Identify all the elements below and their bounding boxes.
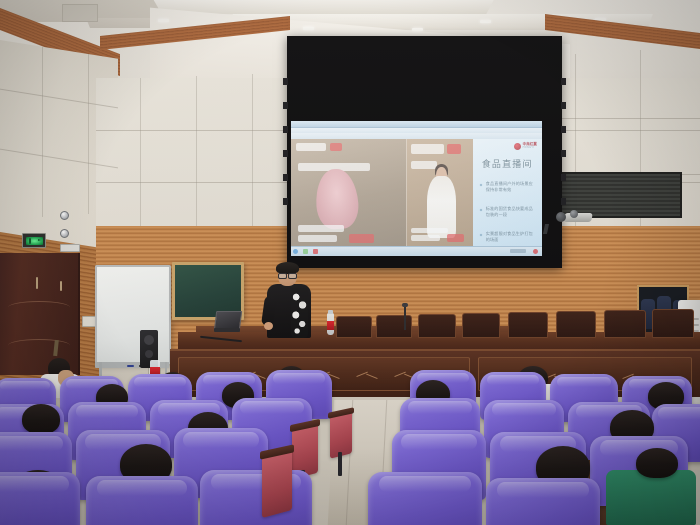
- slide-title: 食品直播间: [482, 157, 533, 170]
- gooseneck-microphone: [404, 306, 406, 330]
- stage-chair[interactable]: [336, 316, 372, 338]
- ceiling-light: [303, 27, 314, 30]
- eyeglasses-icon: [278, 273, 297, 277]
- stage-chair[interactable]: [556, 311, 596, 338]
- logo-mark-icon: [514, 143, 521, 150]
- window-title-bar: [291, 121, 542, 128]
- clock: [510, 249, 526, 253]
- brand-logo: 中商红翼 HONGYI: [514, 143, 537, 150]
- stage-light-housing: [563, 213, 593, 222]
- bottle-cap: [328, 310, 333, 314]
- whiteboard[interactable]: [95, 265, 171, 364]
- seat-leg: [338, 452, 342, 476]
- exit-arrow-icon: [38, 239, 41, 241]
- slide-bullet: 标准的国货食品快要成品包装的一段: [486, 206, 537, 218]
- seat[interactable]: [0, 472, 80, 525]
- emergency-light-housing: [60, 244, 80, 252]
- emergency-lamp-icon: [60, 229, 69, 238]
- panel-seam: [560, 118, 700, 119]
- presenter-shirt-pattern: [291, 288, 308, 338]
- stage-chair[interactable]: [508, 312, 548, 338]
- seat[interactable]: [486, 478, 600, 525]
- projected-slide-image: 中商红翼 HONGYI 食品直播间 食品直播间户外的场景应保持非常有效 标准的国…: [291, 121, 542, 256]
- emergency-lamp-icon: [60, 211, 69, 220]
- emergency-light: [60, 207, 80, 216]
- panel-seam: [196, 76, 197, 228]
- windows-taskbar[interactable]: [291, 246, 542, 256]
- panel-seam: [252, 74, 253, 226]
- seat[interactable]: [200, 470, 312, 525]
- slide-canvas: 中商红翼 HONGYI 食品直播间 食品直播间户外的场景应保持非常有效 标准的国…: [291, 139, 542, 247]
- running-man-icon: [29, 238, 31, 244]
- auditorium-photo: 中商红翼 HONGYI 食品直播间 食品直播间户外的场景应保持非常有效 标准的国…: [0, 0, 700, 525]
- attendee-shirt: [606, 470, 696, 525]
- seat-frame: [262, 448, 292, 518]
- ceiling-light: [480, 20, 491, 23]
- stage-chair[interactable]: [652, 309, 694, 338]
- presentation-slide: 中商红翼 HONGYI 食品直播间 食品直播间户外的场景应保持非常有效 标准的国…: [473, 139, 542, 247]
- marker-blue-icon[interactable]: [127, 365, 134, 367]
- exit-sign: [22, 233, 46, 248]
- presenter: [262, 264, 318, 336]
- stage-chair[interactable]: [376, 315, 412, 338]
- ceiling-light: [158, 19, 169, 22]
- panel-seam: [140, 78, 141, 228]
- speaker-driver-icon: [145, 350, 153, 358]
- slide-bullet: 实景超限对食品生炉打包的场面: [486, 231, 537, 243]
- taskbar-app-icon[interactable]: [313, 249, 318, 254]
- bottle-label: [327, 321, 334, 330]
- attendee-head: [636, 448, 678, 478]
- water-bottle[interactable]: [327, 313, 334, 335]
- microphone-head-icon: [402, 303, 408, 307]
- laptop-keyboard[interactable]: [214, 328, 240, 332]
- speaker-driver-icon: [144, 335, 154, 345]
- livestream-panel-host: [406, 139, 472, 247]
- ceiling-vent: [62, 4, 98, 22]
- seat[interactable]: [86, 476, 198, 525]
- door-handle[interactable]: [36, 277, 38, 289]
- stage-chair[interactable]: [462, 313, 500, 338]
- exit-sign-glow: [26, 237, 43, 245]
- stage-chair[interactable]: [604, 310, 646, 338]
- ceiling-light: [412, 28, 423, 31]
- hall-door[interactable]: [0, 253, 80, 375]
- slide-bullet: 食品直播间户外的场景应保持非常有效: [486, 181, 537, 193]
- attendee-head: [22, 404, 60, 434]
- door-handle[interactable]: [60, 281, 62, 291]
- start-button-icon[interactable]: [293, 249, 298, 254]
- wall-speaker-icon: [556, 212, 566, 222]
- camera-icon: [570, 210, 578, 218]
- livestream-panel-seafood: [291, 139, 406, 247]
- panel-seam: [88, 54, 89, 214]
- taskbar-app-icon[interactable]: [303, 249, 308, 254]
- panel-seam: [42, 47, 43, 217]
- av-speaker-mount: [556, 210, 592, 226]
- logo-subtext: HONGYI: [523, 147, 537, 150]
- wall-socket: [82, 316, 96, 327]
- system-tray-icon[interactable]: [533, 249, 538, 254]
- stage-chair[interactable]: [418, 314, 456, 338]
- presenter-hand: [264, 322, 273, 330]
- seat[interactable]: [368, 472, 482, 525]
